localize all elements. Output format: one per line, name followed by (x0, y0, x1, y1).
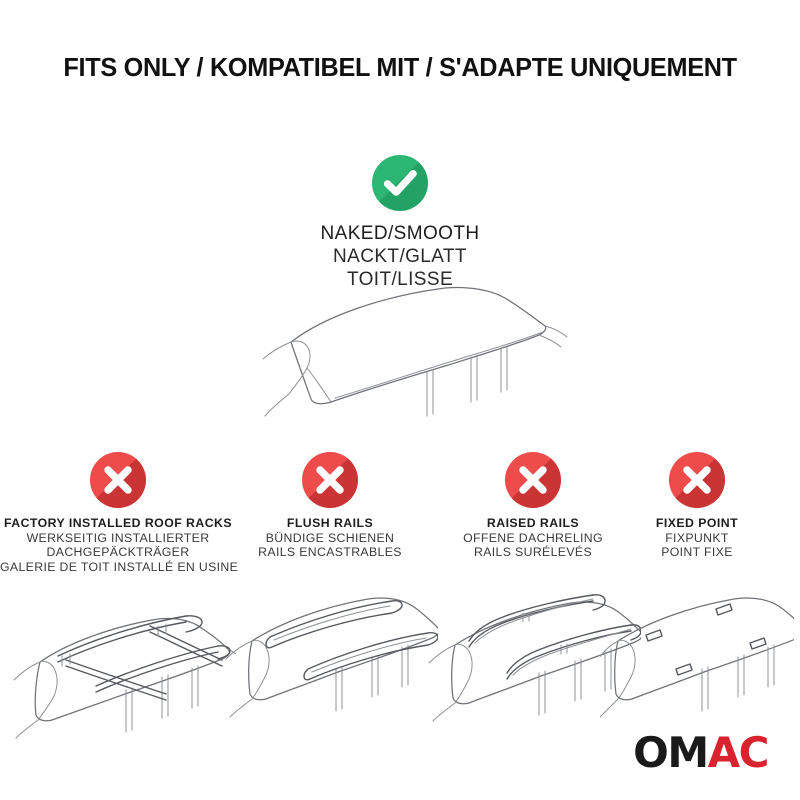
compatible-label-de: NACKT/GLATT (0, 245, 800, 268)
incompatible-section: FACTORY INSTALLED ROOF RACKS WERKSEITIG … (0, 452, 800, 752)
compatible-section: NAKED/SMOOTH NACKT/GLATT TOIT/LISSE (0, 155, 800, 292)
green-check-circle-icon (372, 155, 428, 211)
compatible-label-en: NAKED/SMOOTH (0, 222, 800, 245)
red-cross-circle-icon (505, 452, 561, 508)
incompatible-label-de: BÜNDIGE SCHIENEN (222, 531, 438, 546)
incompatible-labels: FACTORY INSTALLED ROOF RACKS WERKSEITIG … (0, 516, 236, 574)
incompatible-label-en: FIXED POINT (600, 516, 794, 531)
incompatible-label-fr: RAILS ENCASTRABLES (222, 545, 438, 560)
incompatible-label-en: FLUSH RAILS (222, 516, 438, 531)
incompatible-label-de: FIXPUNKT (600, 531, 794, 546)
incompatible-labels: FLUSH RAILS BÜNDIGE SCHIENEN RAILS ENCAS… (222, 516, 438, 560)
incompatible-item-flush-rails: FLUSH RAILS BÜNDIGE SCHIENEN RAILS ENCAS… (222, 452, 438, 744)
page-title-bar: FITS ONLY / KOMPATIBEL MIT / S'ADAPTE UN… (0, 54, 800, 83)
red-cross-circle-icon (90, 452, 146, 508)
omac-logo: OMAC (633, 732, 768, 774)
incompatible-label-de-2: DACHGEPÄCKTRÄGER (0, 545, 236, 560)
incompatible-labels: FIXED POINT FIXPUNKT POINT FIXE (600, 516, 794, 560)
incompatible-label-fr: GALERIE DE TOIT INSTALLÉ EN USINE (0, 560, 236, 575)
incompatible-item-factory-installed-roof-racks: FACTORY INSTALLED ROOF RACKS WERKSEITIG … (0, 452, 236, 755)
incompatible-label-fr: POINT FIXE (600, 545, 794, 560)
incompatible-label-en: FACTORY INSTALLED ROOF RACKS (0, 516, 236, 531)
red-cross-circle-icon (302, 452, 358, 508)
incompatible-label-de-1: WERKSEITIG INSTALLIERTER (0, 531, 236, 546)
incompatible-item-fixed-point: FIXED POINT FIXPUNKT POINT FIXE (600, 452, 794, 744)
car-roof-factory-racks-illustration (0, 580, 236, 755)
logo-text-dark: OM (633, 728, 708, 777)
car-roof-naked-smooth-illustration (255, 278, 575, 418)
logo-text-red: AC (708, 728, 768, 777)
page-title: FITS ONLY / KOMPATIBEL MIT / S'ADAPTE UN… (63, 54, 736, 83)
car-roof-fixed-point-illustration (600, 579, 794, 744)
red-cross-circle-icon (669, 452, 725, 508)
car-roof-flush-rails-illustration (222, 579, 438, 744)
